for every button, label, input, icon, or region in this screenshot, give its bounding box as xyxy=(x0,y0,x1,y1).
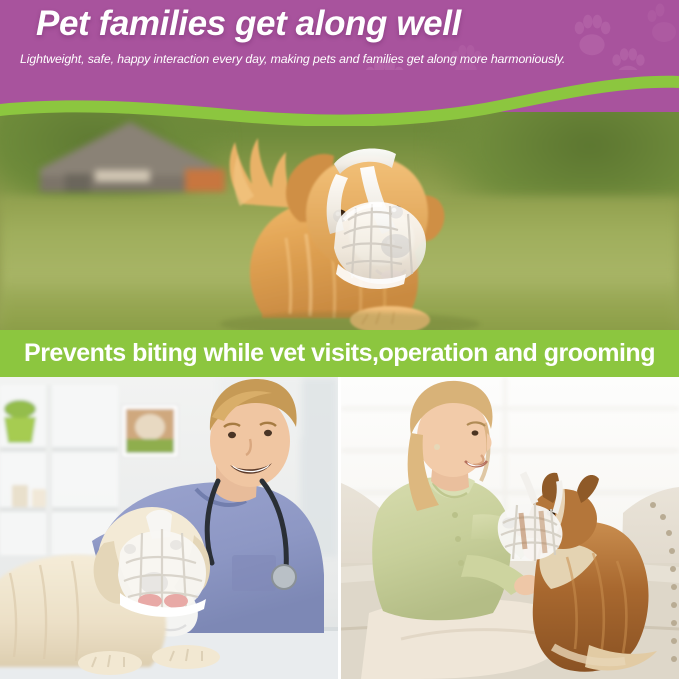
hero-photo xyxy=(0,88,679,330)
gallery-divider xyxy=(338,377,341,679)
product-infographic: Pet families get along well Lightweight,… xyxy=(0,0,679,679)
page-subtitle: Lightweight, safe, happy interaction eve… xyxy=(20,52,660,66)
home-scene-illustration xyxy=(341,377,679,679)
photo-gallery xyxy=(0,377,679,679)
gallery-photo-home xyxy=(341,377,679,679)
hero-dog-with-muzzle-illustration xyxy=(0,88,679,330)
benefit-banner: Prevents biting while vet visits,operati… xyxy=(0,330,679,377)
benefit-banner-text: Prevents biting while vet visits,operati… xyxy=(0,330,679,377)
header-banner: Pet families get along well Lightweight,… xyxy=(0,0,679,112)
gallery-photo-vet xyxy=(0,377,338,679)
page-title: Pet families get along well xyxy=(36,4,656,44)
vet-scene-illustration xyxy=(0,377,338,679)
